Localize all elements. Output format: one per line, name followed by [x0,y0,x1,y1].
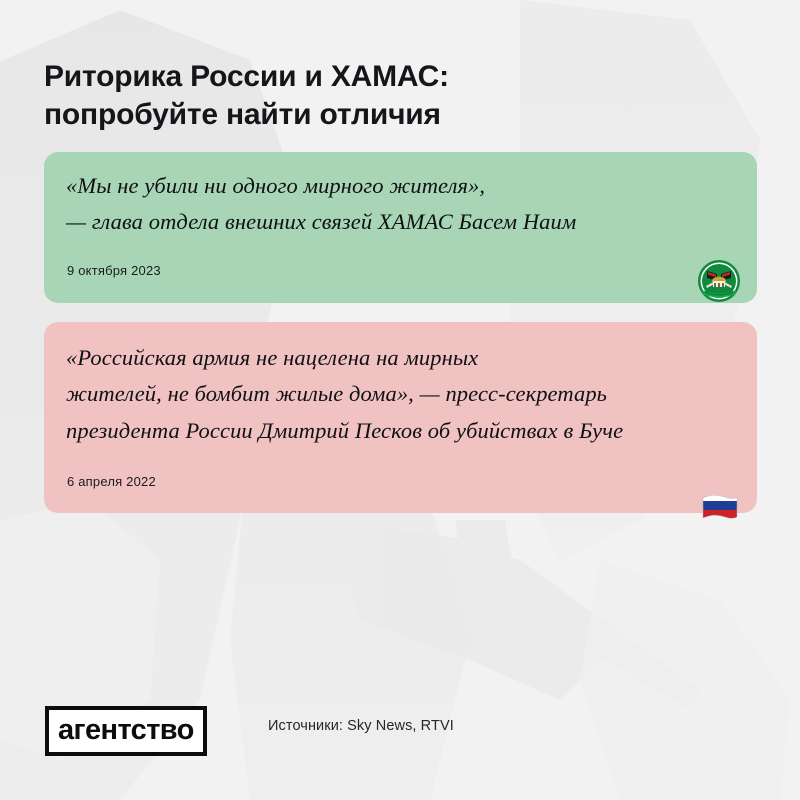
hamas-emblem-icon [697,259,741,303]
agentstvo-logo[interactable]: агентство [45,706,207,756]
sources-label: Источники: Sky News, RTVI [268,718,454,734]
quote-date-hamas: 9 октября 2023 [67,263,161,278]
quote-text-hamas: «Мы не убили ни одного мирного жителя», … [66,168,737,241]
quote-card-russia: «Российская армия не нацелена на мирных … [44,322,757,513]
logo-text: агентство [58,714,194,746]
page-title: Риторика России и ХАМАС: попробуйте найт… [44,58,684,135]
infographic-poster: Риторика России и ХАМАС: попробуйте найт… [0,0,800,800]
quote-card-hamas: «Мы не убили ни одного мирного жителя», … [44,152,757,303]
quote-text-russia: «Российская армия не нацелена на мирных … [66,340,737,449]
russia-flag-icon [698,487,742,531]
quote-date-russia: 6 апреля 2022 [67,474,156,489]
